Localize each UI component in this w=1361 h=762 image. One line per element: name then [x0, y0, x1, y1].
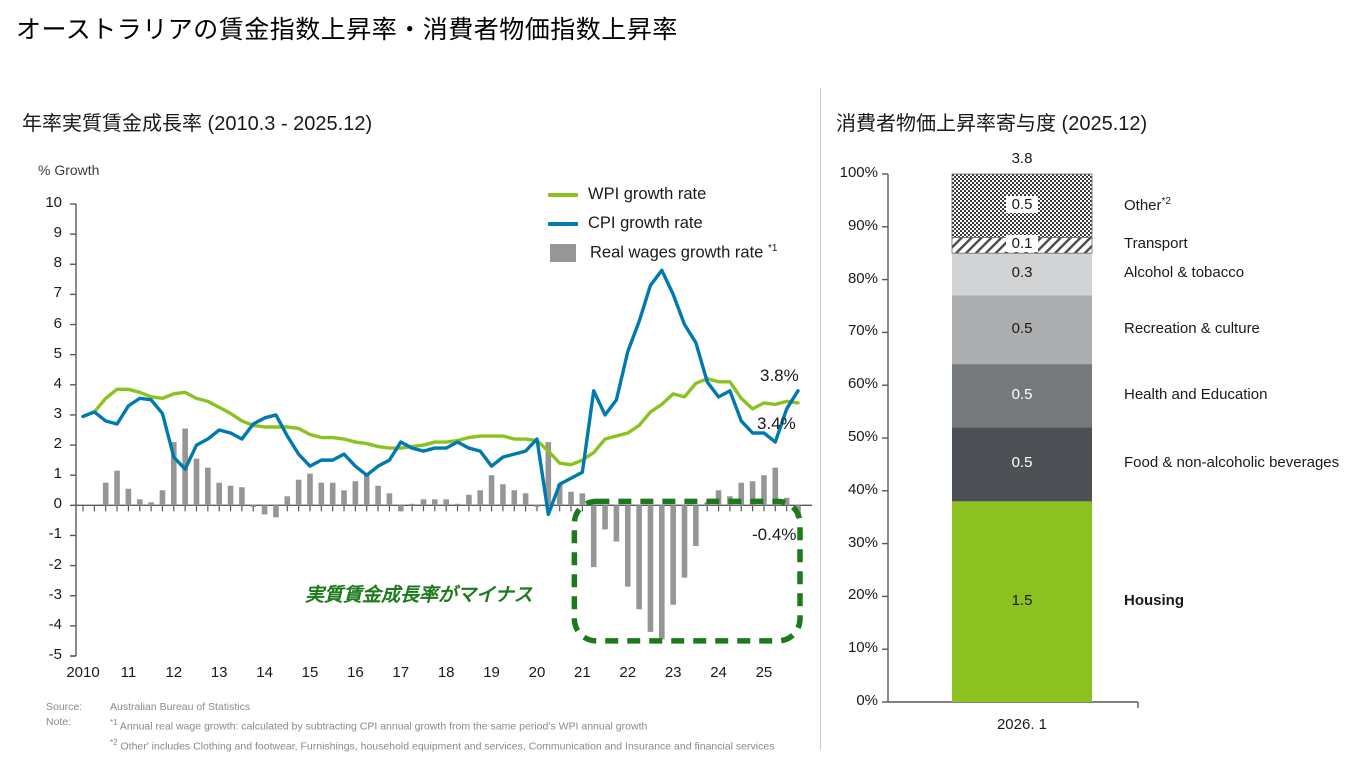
segment-label-food-non-alcoholic-beverages: Food & non-alcoholic beverages: [1124, 454, 1339, 471]
segment-label-transport: Transport: [1124, 235, 1188, 252]
percent-tick-label: 100%: [830, 164, 878, 181]
left-chart-title: 年率実質賃金成長率 (2010.3 - 2025.12): [22, 107, 372, 136]
y-tick-label: 9: [32, 224, 62, 241]
y-tick-label: -4: [32, 616, 62, 633]
slide-root: オーストラリアの賃金指数上昇率・消費者物価指数上昇率 年率実質賃金成長率 (20…: [0, 0, 1361, 762]
percent-tick-label: 80%: [830, 270, 878, 287]
percent-tick-label: 20%: [830, 586, 878, 603]
legend-item: WPI growth rate: [548, 180, 777, 209]
y-tick-label: 3: [32, 405, 62, 422]
footnote-note1: Note: *1 Annual real wage growth: calcul…: [46, 715, 774, 735]
cpi-contribution-chart: 3.8 0%10%20%30%40%50%60%70%80%90%100% 1.…: [820, 150, 1361, 750]
y-tick-label: 7: [32, 284, 62, 301]
y-tick-label: -2: [32, 556, 62, 573]
segment-label-health-and-education: Health and Education: [1124, 386, 1267, 403]
y-tick-label: -1: [32, 525, 62, 542]
page-title: オーストラリアの賃金指数上昇率・消費者物価指数上昇率: [16, 10, 678, 46]
legend-footnote-marker: *1: [768, 243, 777, 254]
y-tick-label: 1: [32, 465, 62, 482]
callout-real-value: -0.4%: [752, 525, 796, 545]
percent-tick-label: 50%: [830, 428, 878, 445]
footnote-note1-text: Annual real wage growth: calculated by s…: [118, 721, 648, 733]
y-tick-label: 0: [32, 495, 62, 512]
legend-item: Real wages growth rate *1: [548, 238, 777, 267]
right-chart-canvas: [820, 150, 1361, 710]
legend-item-label: WPI growth rate: [588, 185, 706, 204]
y-tick-label: 8: [32, 254, 62, 271]
percent-tick-label: 70%: [830, 322, 878, 339]
callout-wpi-value: 3.4%: [757, 414, 796, 434]
segment-value-health-and-education: 0.5: [952, 386, 1092, 403]
y-tick-label: 2: [32, 435, 62, 452]
percent-tick-label: 10%: [830, 639, 878, 656]
segment-label-other: Other*2: [1124, 196, 1171, 214]
percent-tick-label: 0%: [830, 692, 878, 709]
segment-value-bg: 0.1: [1006, 235, 1039, 252]
footnote-source: Source: Australian Bureau of Statistics: [46, 700, 774, 715]
footnote-spacer: [46, 735, 110, 755]
y-tick-label: 10: [32, 194, 62, 211]
chart-legend: WPI growth rateCPI growth rateReal wages…: [548, 180, 777, 267]
legend-line-swatch-icon: [548, 222, 578, 226]
percent-tick-label: 60%: [830, 375, 878, 392]
footnote-note2-text: Other' includes Clothing and footwear, F…: [118, 740, 775, 752]
negative-real-wages-annotation: 実質賃金成長率がマイナス: [305, 580, 533, 607]
segment-value-recreation-culture: 0.5: [952, 320, 1092, 337]
wages-cpi-chart: % Growth 109876543210-1-2-3-4-5 20101112…: [0, 150, 820, 710]
footnote-note2: *2 Other' includes Clothing and footwear…: [46, 735, 774, 755]
y-tick-label: 5: [32, 345, 62, 362]
segment-value-housing: 1.5: [952, 592, 1092, 609]
segment-label-housing: Housing: [1124, 592, 1184, 609]
segment-value-food-non-alcoholic-beverages: 0.5: [952, 454, 1092, 471]
callout-cpi-value: 3.8%: [760, 366, 799, 386]
percent-tick-label: 40%: [830, 481, 878, 498]
segment-value-transport: 0.1: [952, 235, 1092, 252]
y-tick-label: -3: [32, 586, 62, 603]
segment-label-alcohol-tobacco: Alcohol & tobacco: [1124, 264, 1244, 281]
footnote-source-value: Australian Bureau of Statistics: [110, 700, 250, 715]
bar-category-label: 2026. 1: [942, 716, 1102, 733]
y-tick-label: -5: [32, 646, 62, 663]
segment-footnote-marker: *2: [1162, 196, 1171, 207]
legend-box-swatch-icon: [550, 244, 576, 262]
footnotes: Source: Australian Bureau of Statistics …: [46, 700, 774, 754]
legend-item-label: Real wages growth rate *1: [590, 243, 777, 263]
legend-item-label: CPI growth rate: [588, 214, 703, 233]
footnote-note1-value: *1 Annual real wage growth: calculated b…: [110, 715, 647, 735]
footnote-source-key: Source:: [46, 700, 110, 715]
legend-item: CPI growth rate: [548, 209, 777, 238]
footnote-note2-value: *2 Other' includes Clothing and footwear…: [110, 735, 774, 755]
footnote-note1-marker: *1: [110, 718, 118, 727]
x-tick-label: 25: [734, 664, 794, 681]
right-chart-title: 消費者物価上昇率寄与度 (2025.12): [836, 107, 1147, 136]
segment-value-bg: 0.5: [1006, 196, 1039, 213]
legend-line-swatch-icon: [548, 193, 578, 197]
footnote-note-key: Note:: [46, 715, 110, 735]
segment-value-other: 0.5: [952, 196, 1092, 213]
percent-tick-label: 30%: [830, 534, 878, 551]
y-tick-label: 4: [32, 375, 62, 392]
y-tick-label: 6: [32, 315, 62, 332]
percent-tick-label: 90%: [830, 217, 878, 234]
footnote-note2-marker: *2: [110, 738, 118, 747]
segment-label-recreation-culture: Recreation & culture: [1124, 320, 1260, 337]
segment-value-alcohol-tobacco: 0.3: [952, 264, 1092, 281]
